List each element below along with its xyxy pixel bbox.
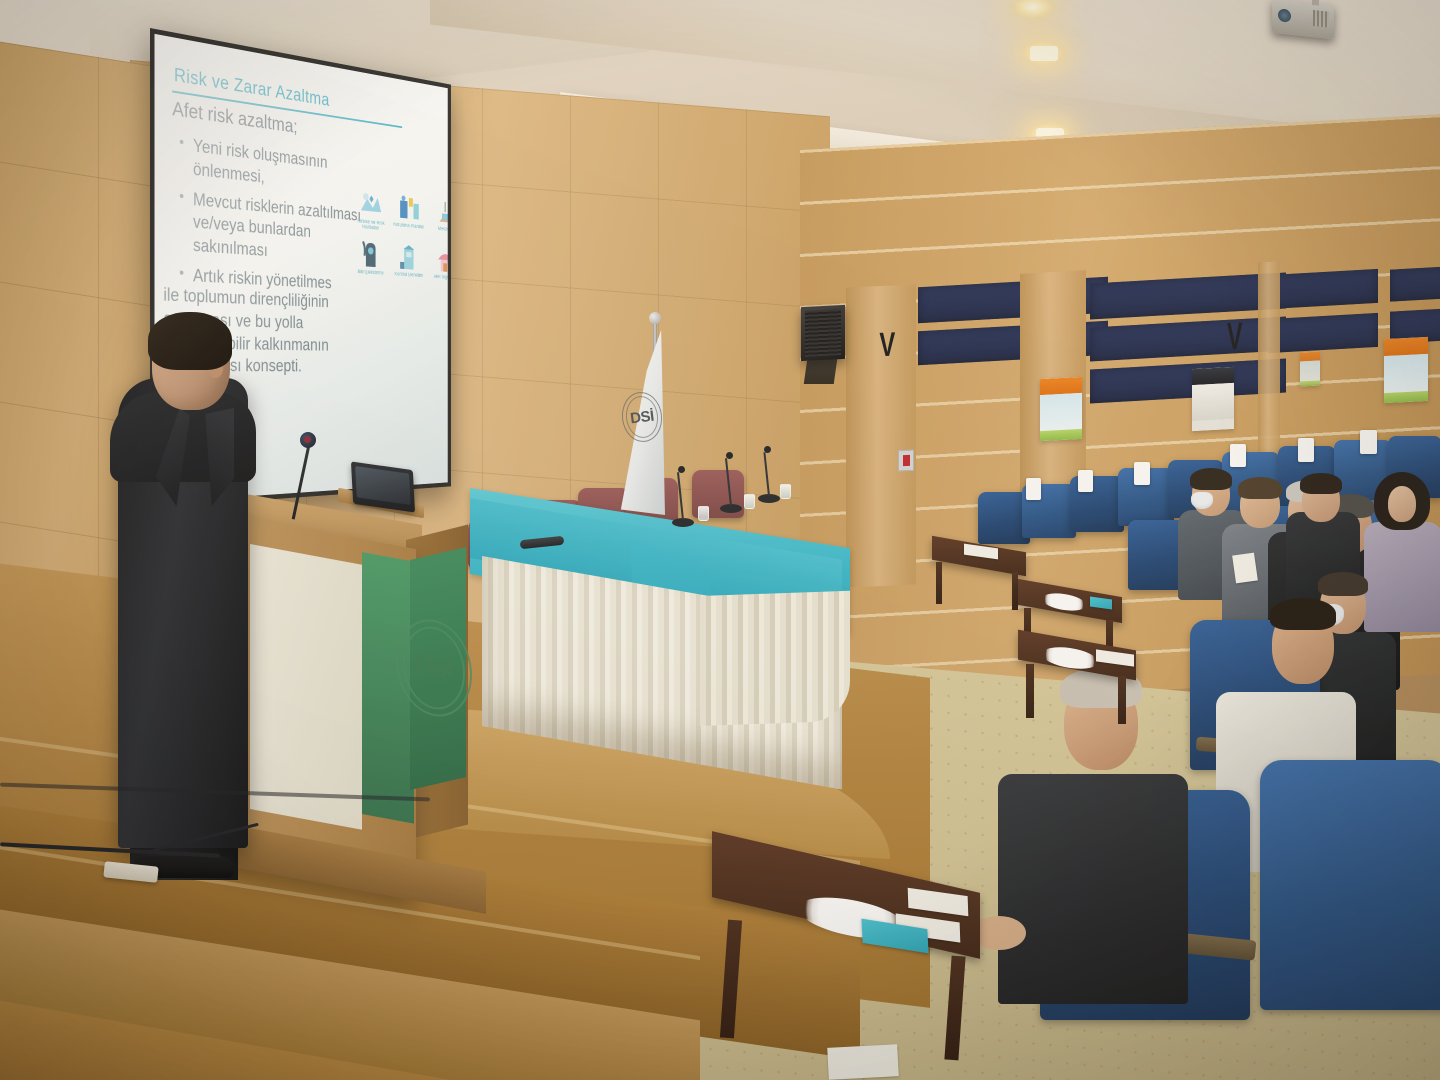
distancing-card <box>1078 470 1093 492</box>
distancing-card <box>1134 462 1150 485</box>
podium-dsi-logo: DSİ <box>395 614 473 722</box>
logo-text: DSİ <box>395 614 473 722</box>
attendee-document <box>1232 553 1258 584</box>
water-glass <box>744 494 755 509</box>
distancing-card <box>1298 438 1314 462</box>
head-table-skirt-right <box>700 591 850 726</box>
audience-seat-front[interactable] <box>1260 760 1440 1010</box>
microphone-head-icon <box>678 466 685 473</box>
attendee-torso <box>1364 522 1440 632</box>
attendee-face <box>1388 486 1416 522</box>
attendee-hair <box>1300 473 1342 494</box>
projector-mount <box>1312 0 1319 6</box>
attendee-hand <box>972 916 1026 950</box>
laptop-screen <box>355 466 411 505</box>
speaker-hair <box>148 312 232 370</box>
microphone-head-icon <box>726 452 733 459</box>
poster-body <box>1300 360 1320 381</box>
ceiling-projector <box>1272 0 1334 39</box>
microphone-head-icon <box>764 446 771 453</box>
side-table-leg <box>1118 676 1126 724</box>
acoustic-panel <box>1390 266 1440 301</box>
extinguisher-icon <box>903 455 910 466</box>
acoustic-panel <box>1268 313 1378 353</box>
safety-poster-orange <box>1040 377 1082 441</box>
auditorium-presentation-scene: V V Risk ve Zarar Azaltma Afet risk azal… <box>0 0 1440 1080</box>
face-mask-icon <box>1191 492 1213 509</box>
attendee-torso <box>998 774 1188 1004</box>
podium-microphone[interactable] <box>300 432 316 448</box>
fire-extinguisher-sign <box>898 450 914 472</box>
safety-poster-right <box>1384 337 1428 403</box>
distancing-card <box>1360 430 1377 454</box>
table-paper <box>827 1044 899 1080</box>
poster-body <box>1192 383 1234 421</box>
poster-footer <box>1300 380 1320 386</box>
podium-laptop[interactable] <box>351 461 415 512</box>
attendee-hair <box>1318 572 1368 596</box>
speaker-grille-icon <box>805 309 841 357</box>
logo-text: DSİ <box>619 390 665 445</box>
attendee-hair <box>1190 468 1232 490</box>
wall-mounted-loudspeaker <box>801 305 845 361</box>
distancing-card <box>1230 444 1246 467</box>
poster-body <box>1040 393 1082 431</box>
wall-v-mark: V <box>1227 322 1243 353</box>
podium-front-panel <box>250 544 362 830</box>
water-glass <box>698 506 709 521</box>
projector-lens-icon <box>1278 8 1291 22</box>
info-poster-dark <box>1192 367 1234 431</box>
wall-v-mark: V <box>879 332 895 360</box>
projector-vent <box>1313 10 1329 28</box>
attendee-hair <box>1238 477 1282 499</box>
dsi-flag-logo: DSİ <box>619 390 665 445</box>
attendee-hair <box>1270 598 1336 630</box>
water-glass <box>780 484 791 499</box>
poster-body <box>1384 353 1428 392</box>
downlight-icon <box>1030 46 1058 61</box>
side-table-leg <box>936 562 942 604</box>
safety-poster-orange-2 <box>1300 351 1320 386</box>
flag-finial <box>649 312 661 324</box>
distancing-card <box>1026 478 1041 500</box>
microphone-windscreen-icon <box>304 436 311 443</box>
acoustic-panel <box>1268 269 1378 309</box>
side-table-leg <box>1026 664 1034 718</box>
